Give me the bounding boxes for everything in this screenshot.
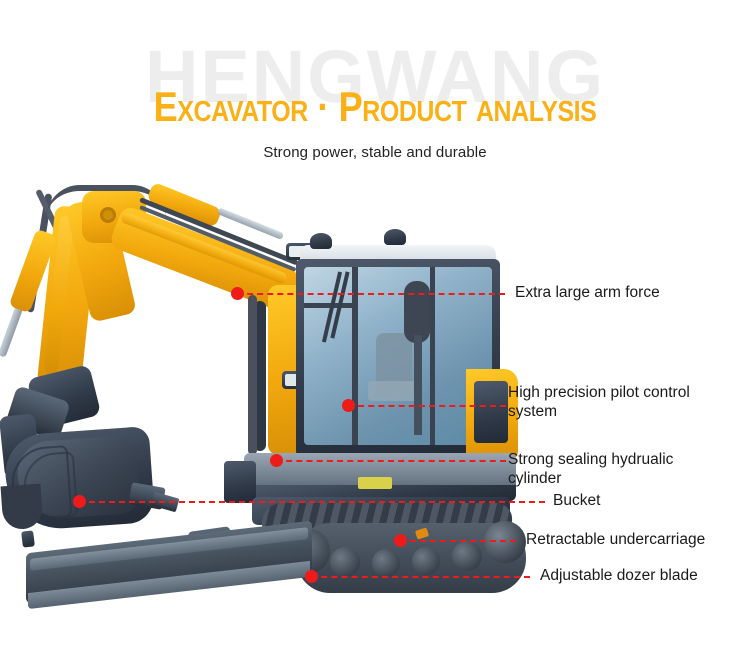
vertical-hose: [248, 295, 257, 455]
warning-decal: [358, 477, 392, 489]
cab-mullion: [304, 303, 352, 308]
leader-line-undercarriage: [400, 540, 516, 542]
track-roller: [330, 547, 360, 577]
leader-line-pilot-control: [348, 405, 506, 407]
callout-label-arm-force: Extra large arm force: [515, 283, 745, 302]
callout-label-pilot-control: High precision pilot control system: [508, 383, 744, 421]
side-guard: [224, 461, 256, 503]
track-roller: [412, 547, 440, 575]
drive-sprocket: [484, 521, 526, 563]
product-analysis-poster: HENGWANG Excavator · Product analysis St…: [0, 0, 750, 646]
page-title: Excavator · Product analysis: [53, 84, 698, 130]
callout-label-hydraulic-cylinder: Strong sealing hydrualic cylinder: [508, 450, 744, 488]
track-roller: [372, 549, 400, 577]
callout-label-dozer-blade: Adjustable dozer blade: [540, 566, 748, 585]
seat-cushion: [368, 381, 420, 401]
callout-label-bucket: Bucket: [553, 491, 743, 510]
blade-end-cap: [21, 530, 35, 547]
callout-label-undercarriage: Retractable undercarriage: [526, 530, 748, 549]
lever-column: [414, 335, 422, 435]
work-light: [384, 229, 406, 245]
pilot-control-lever: [404, 281, 430, 343]
boom-pivot-pin: [100, 207, 116, 223]
leader-line-arm-force: [237, 293, 505, 295]
vent-louvers: [476, 383, 506, 441]
leader-line-hydraulic-cylinder: [276, 460, 506, 462]
work-light: [310, 233, 332, 249]
track-roller: [452, 541, 482, 571]
leader-line-dozer-blade: [311, 576, 530, 578]
leader-line-bucket: [79, 501, 545, 503]
page-subtitle: Strong power, stable and durable: [0, 144, 750, 161]
